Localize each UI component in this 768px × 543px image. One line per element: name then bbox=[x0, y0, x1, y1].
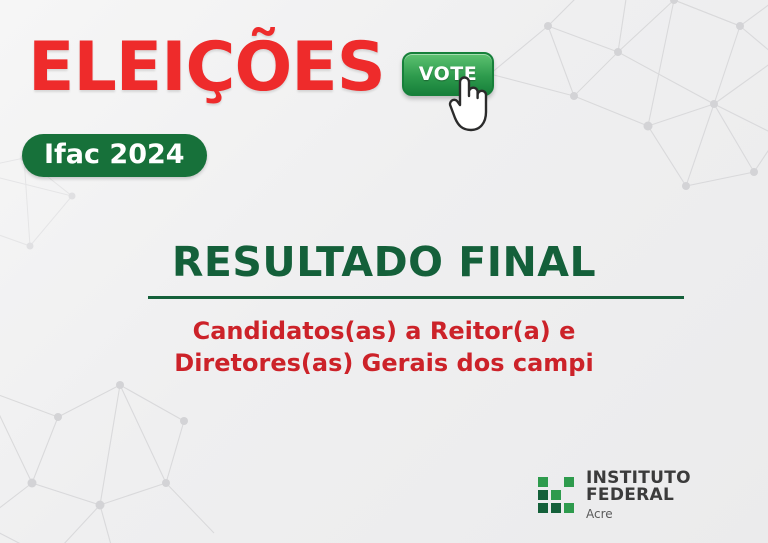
network-pattern-icon bbox=[478, 0, 768, 216]
subtitle-line-1: Candidatos(as) a Reitor(a) e bbox=[0, 316, 768, 348]
poster-canvas: ELEIÇÕES Ifac 2024 VOTE RESULTADO FINAL … bbox=[0, 0, 768, 543]
ifac-logo-text: INSTITUTO FEDERAL Acre bbox=[586, 470, 768, 520]
result-title: RESULTADO FINAL bbox=[0, 238, 768, 286]
ifac-logo: INSTITUTO FEDERAL Acre bbox=[538, 470, 768, 520]
subtitle: Candidatos(as) a Reitor(a) e Diretores(a… bbox=[0, 316, 768, 379]
title-divider bbox=[148, 296, 684, 299]
page-title: ELEIÇÕES bbox=[28, 36, 385, 101]
ifac-logo-subtitle: Acre bbox=[586, 508, 768, 520]
ifac-logo-title: INSTITUTO FEDERAL bbox=[586, 470, 768, 504]
network-pattern-icon bbox=[0, 373, 220, 543]
year-badge: Ifac 2024 bbox=[22, 134, 207, 177]
ifac-logo-mark-icon bbox=[538, 477, 574, 513]
vote-button-group[interactable]: VOTE bbox=[402, 52, 498, 98]
subtitle-line-2: Diretores(as) Gerais dos campi bbox=[0, 348, 768, 380]
hand-pointer-icon bbox=[446, 72, 492, 134]
